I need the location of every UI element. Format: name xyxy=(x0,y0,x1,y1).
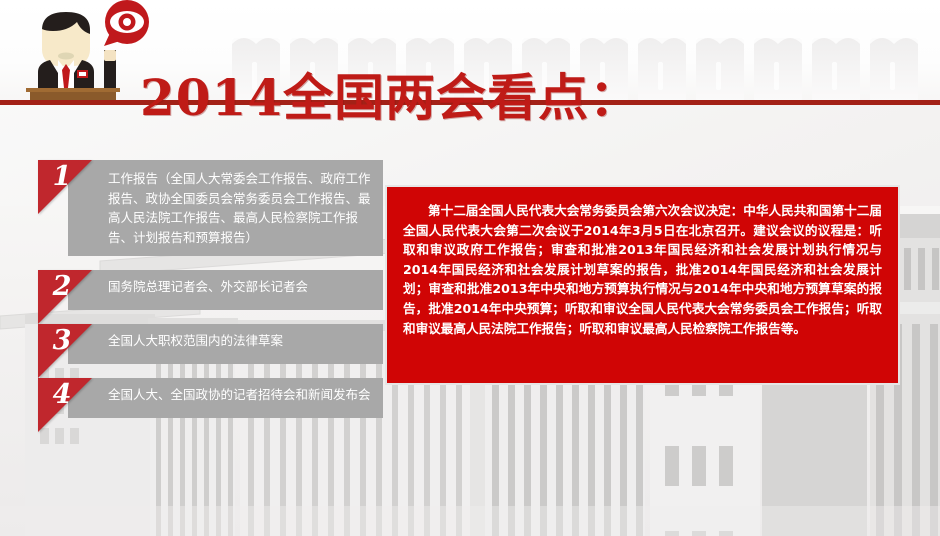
list-item-bar[interactable]: 国务院总理记者会、外交部长记者会 xyxy=(68,270,383,310)
list-item[interactable]: 国务院总理记者会、外交部长记者会 2 xyxy=(38,270,383,310)
list-item[interactable]: 全国人大职权范围内的法律草案 3 xyxy=(38,324,383,364)
list-item[interactable]: 全国人大、全国政协的记者招待会和新闻发布会 4 xyxy=(38,378,383,418)
microphone-icon xyxy=(104,50,116,88)
list-item-bar[interactable]: 工作报告（全国人大常委会工作报告、政府工作报告、政协全国委员会常务委员会工作报告… xyxy=(68,160,383,256)
list-item-bar[interactable]: 全国人大职权范围内的法律草案 xyxy=(68,324,383,364)
list-item[interactable]: 工作报告（全国人大常委会工作报告、政府工作报告、政协全国委员会常务委员会工作报告… xyxy=(38,160,383,256)
list-item-label: 全国人大、全国政协的记者招待会和新闻发布会 xyxy=(108,385,371,405)
page-title: 2014全国两会看点： xyxy=(140,70,640,126)
list-item-bar[interactable]: 全国人大、全国政协的记者招待会和新闻发布会 xyxy=(68,378,383,418)
announcement-panel: 第十二届全国人民代表大会常务委员会第六次会议决定：中华人民共和国第十二届全国人民… xyxy=(385,185,900,385)
podium-speaker-icon xyxy=(16,0,166,105)
speaker-illustration xyxy=(16,0,166,105)
list-item-label: 国务院总理记者会、外交部长记者会 xyxy=(108,277,371,297)
highlights-list: 工作报告（全国人大常委会工作报告、政府工作报告、政协全国委员会常务委员会工作报告… xyxy=(38,160,383,432)
eye-speech-bubble-icon xyxy=(104,0,149,46)
announcement-text: 第十二届全国人民代表大会常务委员会第六次会议决定：中华人民共和国第十二届全国人民… xyxy=(403,201,882,338)
list-item-label: 全国人大职权范围内的法律草案 xyxy=(108,331,371,351)
list-item-label: 工作报告（全国人大常委会工作报告、政府工作报告、政协全国委员会常务委员会工作报告… xyxy=(108,169,371,247)
poster-canvas: 2014全国两会看点： 工作报告（全国人大常委会工作报告、政府工作报告、政协全国… xyxy=(0,0,940,536)
